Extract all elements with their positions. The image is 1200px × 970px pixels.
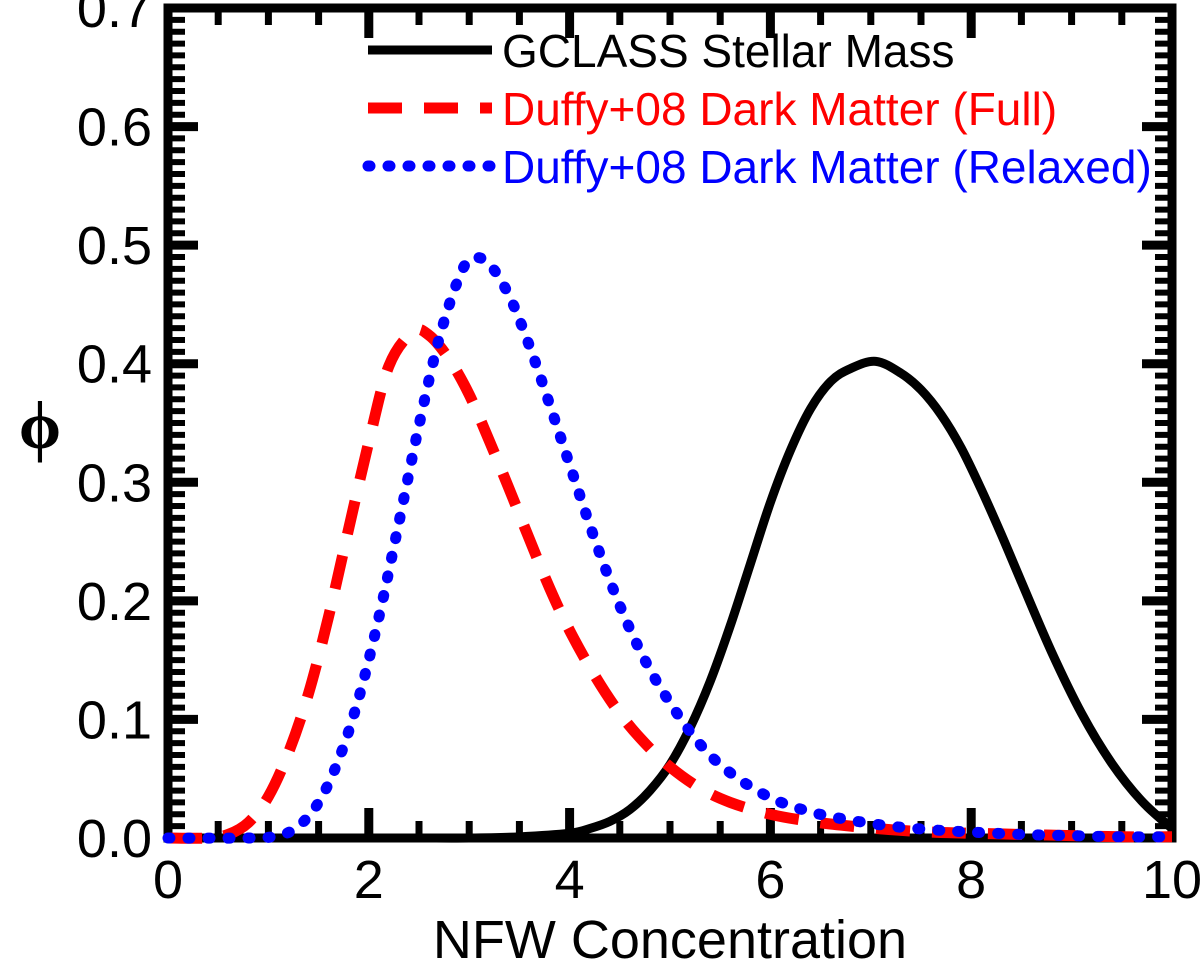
- legend-label-0: GCLASS Stellar Mass: [502, 25, 954, 77]
- y-tick-label: 0.3: [77, 453, 152, 513]
- x-tick-label: 8: [956, 850, 986, 910]
- x-tick-label: 6: [755, 850, 785, 910]
- y-tick-label: 0.6: [77, 98, 152, 158]
- x-tick-label: 10: [1142, 850, 1200, 910]
- x-tick-label: 4: [555, 850, 585, 910]
- x-axis-title: NFW Concentration: [433, 910, 907, 970]
- y-tick-label: 0.2: [77, 572, 152, 632]
- y-tick-label: 0.5: [77, 216, 152, 276]
- chart-page: 0246810 0.00.10.20.30.40.50.60.7 NFW Con…: [0, 0, 1200, 970]
- legend-label-2: Duffy+08 Dark Matter (Relaxed): [502, 141, 1152, 193]
- y-tick-label: 0.1: [77, 690, 152, 750]
- y-axis-title: ϕ: [19, 387, 61, 463]
- legend-label-1: Duffy+08 Dark Matter (Full): [502, 83, 1057, 135]
- y-tick-label: 0.4: [77, 335, 152, 395]
- y-tick-label: 0.7: [77, 0, 152, 39]
- x-tick-label: 2: [354, 850, 384, 910]
- x-tick-label: 0: [153, 850, 183, 910]
- y-tick-label: 0.0: [77, 809, 152, 869]
- nfw-concentration-plot: 0246810 0.00.10.20.30.40.50.60.7 NFW Con…: [0, 0, 1200, 970]
